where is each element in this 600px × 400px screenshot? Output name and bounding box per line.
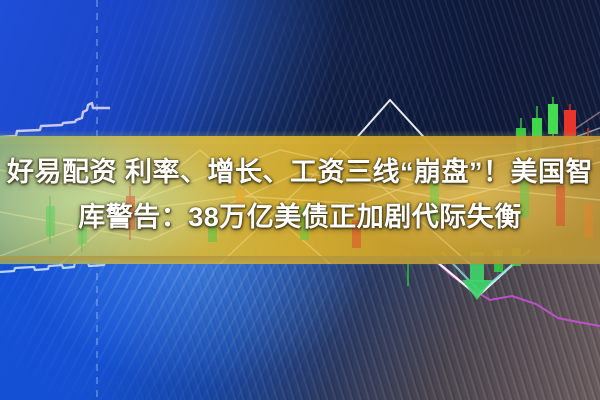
banner-image: 好易配资 利率、增长、工资三线“崩盘”！美国智 库警告：38万亿美债正加剧代际失… <box>0 0 600 400</box>
headline-line-2: 库警告：38万亿美债正加剧代际失衡 <box>78 202 522 232</box>
headline-line-1: 好易配资 利率、增长、工资三线“崩盘”！美国智 <box>7 157 593 187</box>
gold-band-bottom-edge <box>0 256 600 266</box>
page-title: 好易配资 利率、增长、工资三线“崩盘”！美国智 库警告：38万亿美债正加剧代际失… <box>0 150 600 240</box>
